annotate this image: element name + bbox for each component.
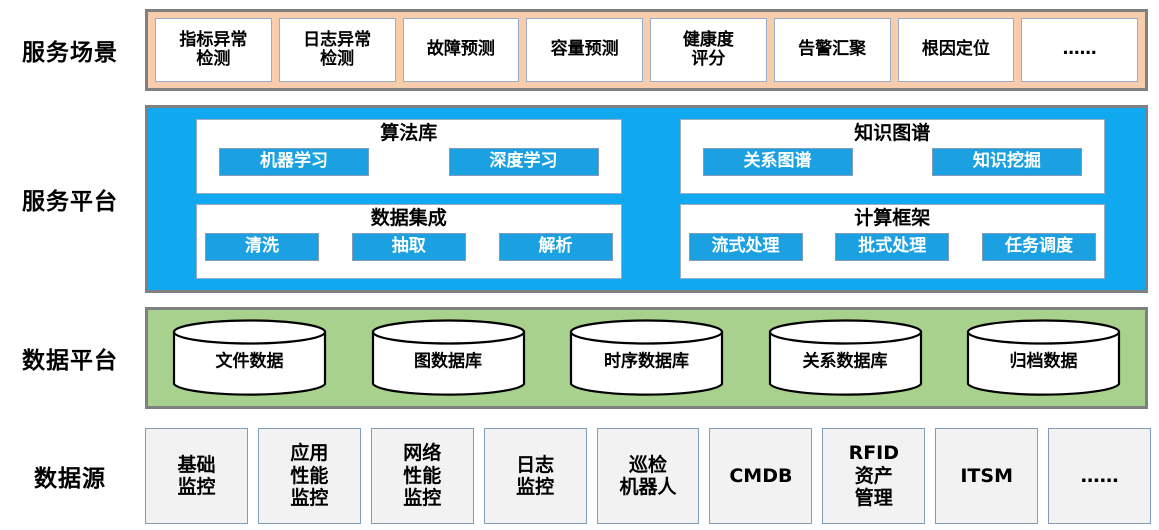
panel-algorithm-library: 算法库 机器学习 深度学习 [196,119,622,194]
row-label-data-sources: 数据源 [0,428,140,524]
panel-tag[interactable]: 关系图谱 [703,148,853,176]
panel-tag[interactable]: 流式处理 [689,233,803,261]
panel-knowledge-graph: 知识图谱 关系图谱 知识挖掘 [680,119,1106,194]
panel-tag[interactable]: 知识挖掘 [932,148,1082,176]
data-store-cylinder[interactable]: 图数据库 [371,319,526,397]
service-platform-panels: 算法库 机器学习 深度学习 知识图谱 关系图谱 知识挖掘 数据集成 清洗 [148,108,1145,290]
database-cylinder-icon [768,319,923,397]
row-label-service-scenarios: 服务场景 [0,9,140,91]
scenario-chip-ellipsis[interactable]: …… [1021,18,1138,82]
scenario-chip[interactable]: 健康度 评分 [650,18,767,82]
data-store-cylinder[interactable]: 归档数据 [966,319,1121,397]
scenario-chip[interactable]: 容量预测 [526,18,643,82]
panel-tag-list: 关系图谱 知识挖掘 [681,148,1105,176]
panel-tag-list: 清洗 抽取 解析 [197,233,621,261]
scenario-chip[interactable]: 告警汇聚 [774,18,891,82]
data-source-box[interactable]: 基础 监控 [145,428,248,524]
database-cylinder-icon [371,319,526,397]
scenario-chip[interactable]: 日志异常 检测 [279,18,396,82]
panel-tag[interactable]: 解析 [499,233,613,261]
data-source-box-ellipsis[interactable]: …… [1048,428,1151,524]
panel-title: 算法库 [380,123,437,145]
architecture-diagram: 服务场景 指标异常 检测 日志异常 检测 故障预测 容量预测 健康度 评分 告警… [0,0,1159,530]
panel-tag[interactable]: 清洗 [205,233,319,261]
panel-tag-list: 流式处理 批式处理 任务调度 [681,233,1105,261]
database-cylinder-icon [569,319,724,397]
data-store-list: 文件数据 图数据库 时序数据库 [148,310,1145,406]
data-store-cylinder[interactable]: 文件数据 [172,319,327,397]
panel-tag[interactable]: 抽取 [352,233,466,261]
data-source-box[interactable]: 巡检 机器人 [597,428,700,524]
scenario-chip[interactable]: 指标异常 检测 [155,18,272,82]
data-source-box[interactable]: ITSM [935,428,1038,524]
service-scenarios-band: 指标异常 检测 日志异常 检测 故障预测 容量预测 健康度 评分 告警汇聚 根因… [145,9,1148,91]
data-source-list: 基础 监控 应用 性能 监控 网络 性能 监控 日志 监控 巡检 机器人 CMD… [145,428,1151,524]
panel-tag[interactable]: 深度学习 [449,148,599,176]
row-label-service-platform: 服务平台 [0,105,140,293]
panel-data-integration: 数据集成 清洗 抽取 解析 [196,204,622,279]
panel-title: 计算框架 [854,208,930,230]
panel-title: 知识图谱 [854,123,930,145]
panel-tag[interactable]: 批式处理 [835,233,949,261]
data-platform-band: 文件数据 图数据库 时序数据库 [145,307,1148,409]
data-store-cylinder[interactable]: 时序数据库 [569,319,724,397]
scenario-chip[interactable]: 根因定位 [898,18,1015,82]
data-source-box[interactable]: 网络 性能 监控 [371,428,474,524]
data-source-box[interactable]: 日志 监控 [484,428,587,524]
service-scenarios-list: 指标异常 检测 日志异常 检测 故障预测 容量预测 健康度 评分 告警汇聚 根因… [148,12,1145,88]
panel-tag-list: 机器学习 深度学习 [197,148,621,176]
data-source-box[interactable]: RFID 资产 管理 [822,428,925,524]
row-label-data-platform: 数据平台 [0,307,140,409]
panel-tag[interactable]: 任务调度 [982,233,1096,261]
database-cylinder-icon [172,319,327,397]
panel-title: 数据集成 [371,208,447,230]
panel-computing-framework: 计算框架 流式处理 批式处理 任务调度 [680,204,1106,279]
database-cylinder-icon [966,319,1121,397]
data-source-box[interactable]: 应用 性能 监控 [258,428,361,524]
data-source-box[interactable]: CMDB [709,428,812,524]
scenario-chip[interactable]: 故障预测 [403,18,520,82]
data-store-cylinder[interactable]: 关系数据库 [768,319,923,397]
service-platform-band: 算法库 机器学习 深度学习 知识图谱 关系图谱 知识挖掘 数据集成 清洗 [145,105,1148,293]
panel-tag[interactable]: 机器学习 [219,148,369,176]
